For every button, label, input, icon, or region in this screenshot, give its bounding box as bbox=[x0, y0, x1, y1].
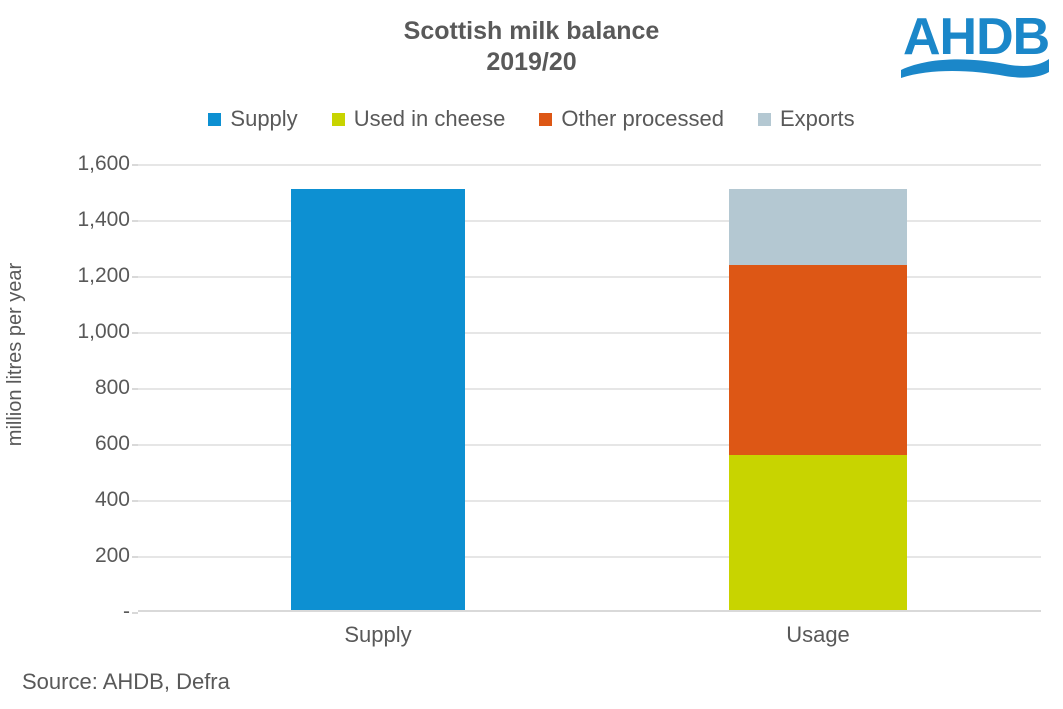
y-tick-1400: 1,400 bbox=[0, 208, 130, 232]
legend-swatch-used-in-cheese bbox=[332, 113, 345, 126]
y-tick-1600: 1,600 bbox=[0, 152, 130, 176]
y-tick-400: 400 bbox=[0, 488, 130, 512]
y-tick-0: - bbox=[0, 600, 130, 624]
legend-label-used-in-cheese: Used in cheese bbox=[354, 106, 506, 132]
gridline-1600 bbox=[138, 164, 1041, 166]
chart-legend: Supply Used in cheese Other processed Ex… bbox=[0, 106, 1063, 132]
legend-swatch-exports bbox=[758, 113, 771, 126]
y-tick-1000: 1,000 bbox=[0, 320, 130, 344]
legend-label-exports: Exports bbox=[780, 106, 855, 132]
bar-segment-exports[interactable] bbox=[729, 189, 907, 265]
bar-segment-other-processed[interactable] bbox=[729, 265, 907, 455]
y-axis-tick-labels: 1,600 1,400 1,200 1,000 800 600 400 200 … bbox=[0, 0, 130, 709]
legend-label-other-processed: Other processed bbox=[561, 106, 724, 132]
bar-column-usage[interactable] bbox=[729, 189, 907, 610]
legend-item-used-in-cheese[interactable]: Used in cheese bbox=[332, 106, 506, 132]
plot-area bbox=[138, 164, 1041, 612]
svg-text:AHDB: AHDB bbox=[903, 8, 1049, 66]
legend-swatch-other-processed bbox=[539, 113, 552, 126]
y-tick-1200: 1,200 bbox=[0, 264, 130, 288]
chart-title-line2: 2019/20 bbox=[486, 48, 576, 76]
x-axis-line bbox=[138, 610, 1041, 612]
legend-item-exports[interactable]: Exports bbox=[758, 106, 855, 132]
chart-title-line1: Scottish milk balance bbox=[404, 17, 660, 45]
bar-column-supply[interactable] bbox=[291, 189, 465, 610]
bar-segment-used-in-cheese[interactable] bbox=[729, 455, 907, 610]
y-tick-600: 600 bbox=[0, 432, 130, 456]
source-note: Source: AHDB, Defra bbox=[22, 669, 230, 695]
y-tick-800: 800 bbox=[0, 376, 130, 400]
ahdb-logo: AHDB bbox=[901, 4, 1051, 82]
legend-label-supply: Supply bbox=[230, 106, 297, 132]
legend-item-other-processed[interactable]: Other processed bbox=[539, 106, 724, 132]
legend-item-supply[interactable]: Supply bbox=[208, 106, 297, 132]
x-label-supply: Supply bbox=[291, 622, 465, 648]
y-tickmark-0 bbox=[132, 612, 138, 614]
bar-segment-supply[interactable] bbox=[291, 189, 465, 610]
y-tick-200: 200 bbox=[0, 544, 130, 568]
ahdb-logo-icon: AHDB bbox=[901, 4, 1051, 82]
x-label-usage: Usage bbox=[729, 622, 907, 648]
legend-swatch-supply bbox=[208, 113, 221, 126]
